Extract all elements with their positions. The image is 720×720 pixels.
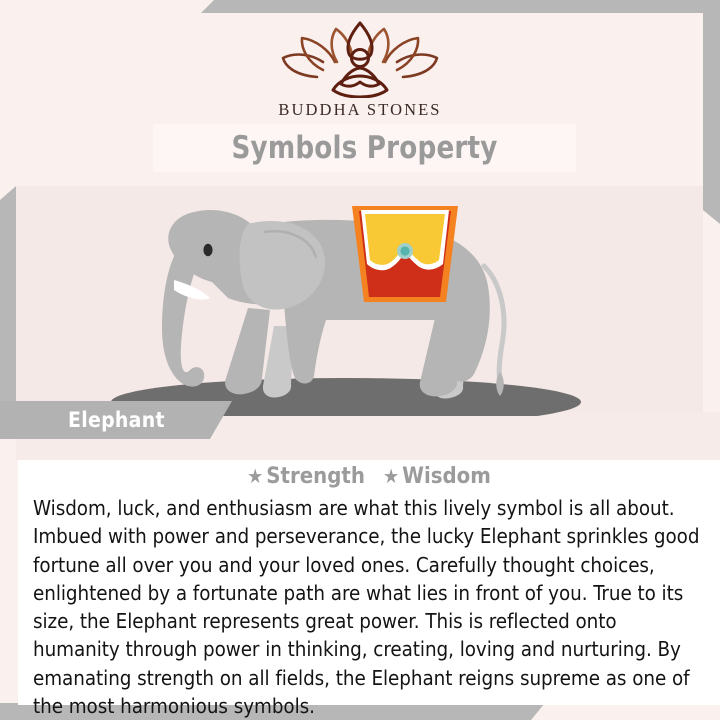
keyword-wisdom: ★Wisdom [383,464,491,489]
page-title: Symbols Property [231,130,497,166]
symbol-name-tab: Elephant [0,401,232,439]
keyword-wisdom-label: Wisdom [402,464,491,489]
decorative-ribbon-top [200,0,720,14]
symbol-infographic-card: BUDDHA STONES Symbols Property [0,0,720,720]
description-text: Wisdom, luck, and enthusiasm are what th… [33,494,706,720]
brand-logo: BUDDHA STONES [0,18,720,120]
walking-elephant-icon [16,186,703,416]
elephant-blanket-gem [400,246,409,255]
keyword-strength-label: Strength [266,464,365,489]
symbol-name-label: Elephant [68,408,165,432]
lotus-meditation-icon [275,18,445,98]
star-icon: ★ [383,464,399,488]
keyword-strength: ★Strength [247,464,365,489]
keyword-list: ★Strength★Wisdom [18,460,720,489]
title-banner: Symbols Property [153,124,576,172]
elephant-eye [203,244,212,256]
star-icon: ★ [247,464,263,488]
brand-wordmark: BUDDHA STONES [0,100,720,120]
description-panel: ★Strength★Wisdom Wisdom, luck, and enthu… [18,460,720,705]
elephant-hind-leg [420,314,462,396]
decorative-ribbon-left [0,186,16,412]
